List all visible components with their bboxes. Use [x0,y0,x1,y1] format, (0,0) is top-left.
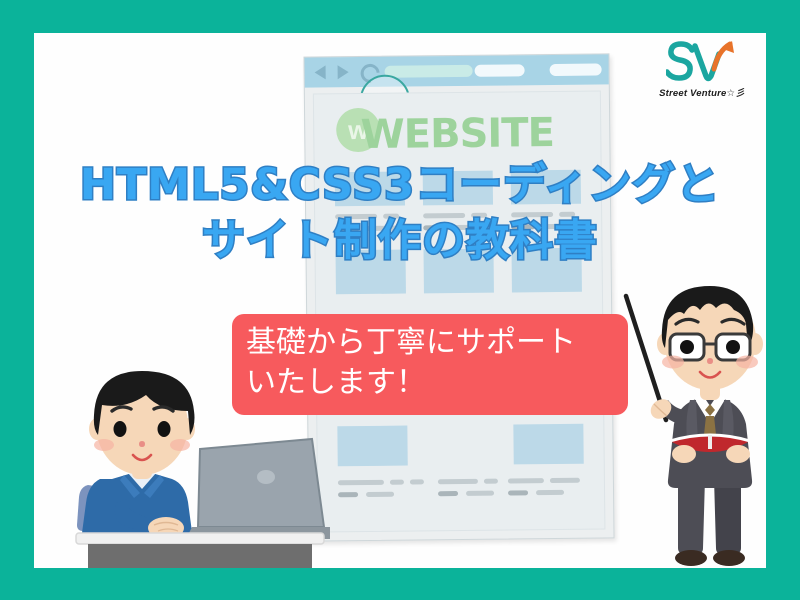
teacher-with-pointer-illustration [620,278,766,568]
browser-frame: w WEBSITE [303,53,614,541]
mockup-text-line [390,480,404,485]
mockup-text-line [366,492,394,497]
mockup-text-line [508,478,544,483]
mockup-text-line [508,490,528,495]
promo-banner: w WEBSITE [0,0,800,600]
logo-text: Street Venture☆彡 [652,85,752,99]
page-title: HTML5&CSS3コーディングと サイト制作の教科書 [34,157,766,269]
title-line-1: HTML5&CSS3コーディングと [80,160,720,210]
banner-card: w WEBSITE [34,33,766,568]
mockup-text-line [410,479,424,484]
mockup-text-line [550,478,580,483]
mockup-text-line [438,479,478,484]
browser-chrome [304,54,608,87]
mockup-text-line [338,480,384,485]
back-arrow-icon[interactable] [315,65,326,79]
forward-arrow-icon[interactable] [338,65,349,79]
website-heading: WEBSITE [314,110,600,159]
man-at-laptop-illustration [70,353,330,568]
sv-monogram-icon [666,39,738,87]
toolbar-pill-1 [475,64,525,77]
mockup-text-line [466,491,494,496]
mockup-block [513,424,583,465]
mockup-text-line [484,479,498,484]
street-venture-logo: Street Venture☆彡 [652,37,752,109]
address-bar[interactable] [385,65,473,78]
mockup-text-line [438,491,458,496]
toolbar-pill-2 [550,63,602,76]
website-mockup: w WEBSITE [303,53,614,541]
title-line-2: サイト制作の教科書 [34,213,766,269]
mockup-text-line [536,490,564,495]
mockup-block [337,426,407,467]
mockup-text-line [338,492,358,497]
